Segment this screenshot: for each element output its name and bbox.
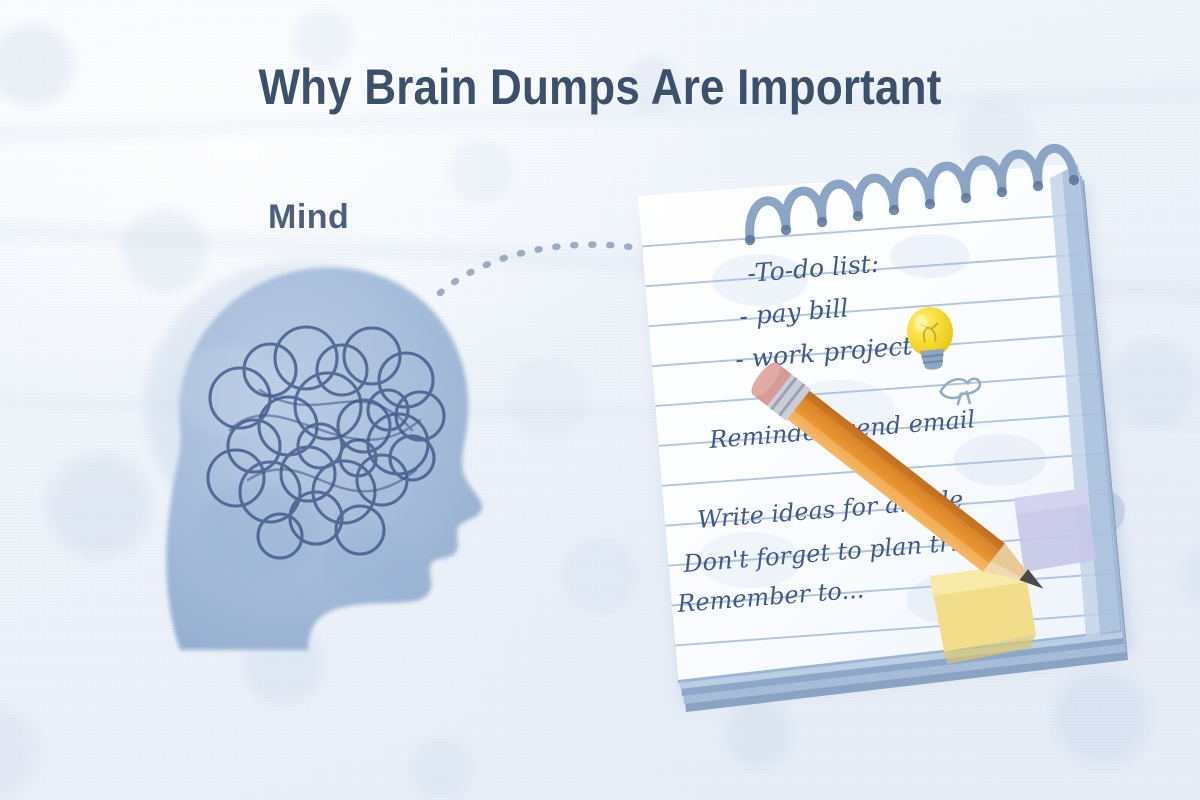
illustration-canvas: ? Why Brain Dumps Are Important Mind	[0, 0, 1200, 800]
sticky-note-purple-icon	[1014, 488, 1096, 572]
page-title: Why Brain Dumps Are Important	[72, 58, 1128, 116]
notepad-group: -To-do list: - pay bill - work project R…	[600, 160, 1160, 740]
notepad-svg: -To-do list: - pay bill - work project R…	[600, 160, 1160, 740]
